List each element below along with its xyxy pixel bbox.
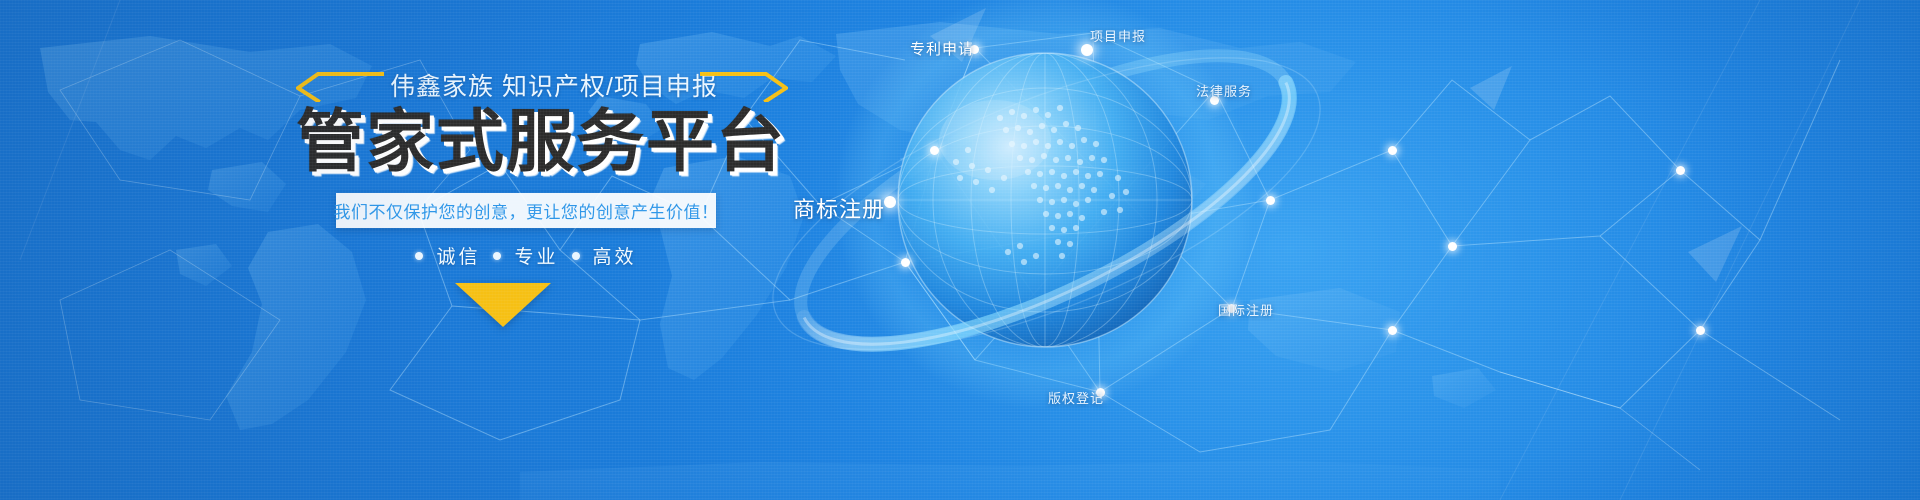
network-node-dot — [930, 146, 939, 155]
globe-label-copyright-registration: 版权登记 — [1048, 388, 1104, 407]
eyebrow-text: 伟鑫家族 知识产权/项目申报 — [390, 67, 718, 103]
network-node-dot — [1676, 166, 1685, 175]
tagline-box: 我们不仅保护您的创意，更让您的创意产生价值！ — [336, 193, 716, 228]
bullet-dot-icon — [493, 252, 501, 260]
globe-graphic — [0, 0, 1920, 500]
globe-label-trademark-registration: 商标注册 — [793, 192, 885, 224]
bullet-item-professional: 专业 — [514, 242, 558, 269]
bullet-dot-icon — [415, 252, 423, 260]
network-node-dot — [1388, 326, 1397, 335]
hero-banner: 项目申报 专利申请 法律服务 商标注册 国际注册 版权登记 伟鑫家族 知识产权/… — [0, 0, 1920, 500]
network-node-dot — [884, 196, 896, 208]
network-node-dot — [1696, 326, 1705, 335]
network-node-dot — [901, 258, 910, 267]
network-node-dot — [1266, 196, 1275, 205]
value-bullets: 诚信 专业 高效 — [336, 242, 716, 269]
eyebrow-row: 伟鑫家族 知识产权/项目申报 — [296, 62, 766, 106]
network-node-dot — [1388, 146, 1397, 155]
chevron-right-icon — [700, 72, 788, 102]
hero-text-block: 伟鑫家族 知识产权/项目申报 管家式服务平台 我们不仅保护您的创意，更让您的创意… — [296, 62, 766, 327]
network-node-dot — [1081, 44, 1093, 56]
bullet-dot-icon — [572, 252, 580, 260]
chevron-left-icon — [296, 72, 384, 102]
globe-label-legal-service: 法律服务 — [1196, 81, 1252, 100]
bullet-item-efficient: 高效 — [593, 242, 637, 269]
globe-label-international-registration: 国际注册 — [1218, 300, 1274, 319]
bullet-item-integrity: 诚信 — [436, 242, 480, 269]
triangle-down-icon — [455, 283, 551, 327]
tagline-text: 我们不仅保护您的创意，更让您的创意产生价值！ — [334, 198, 719, 223]
globe-label-project-declaration: 项目申报 — [1090, 26, 1146, 45]
network-node-dot — [1448, 242, 1457, 251]
globe-label-patent-application: 专利申请 — [910, 38, 974, 59]
page-title: 管家式服务平台 — [296, 108, 766, 177]
